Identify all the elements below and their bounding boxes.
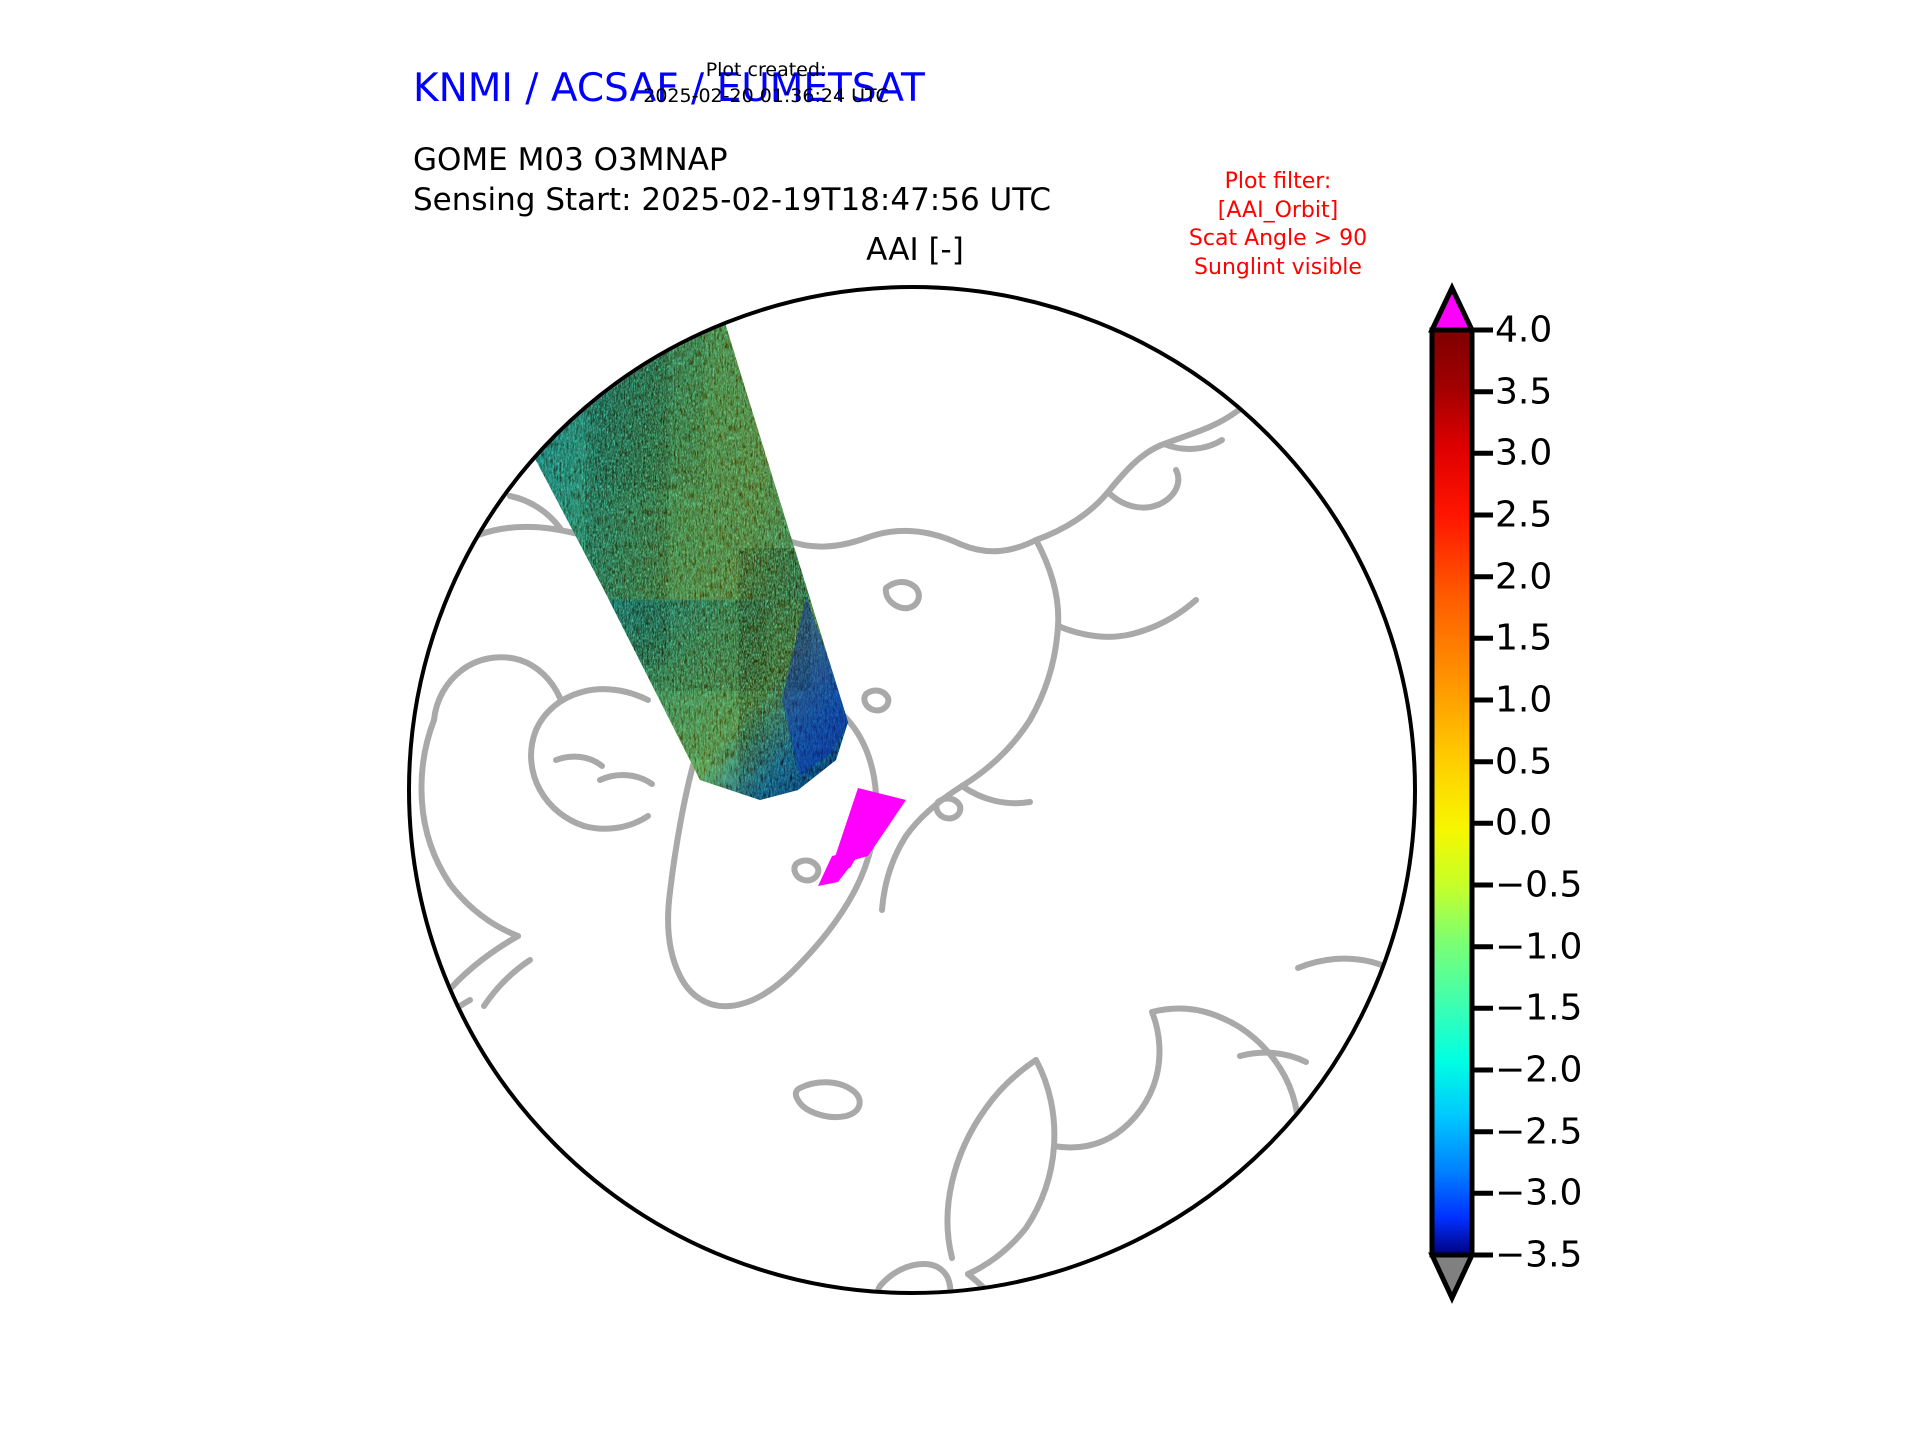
colorbar-tick-label: 2.5 <box>1495 495 1552 536</box>
colorbar-tick-label: 0.5 <box>1495 741 1552 782</box>
colorbar-tick-label: 1.0 <box>1495 680 1552 721</box>
colorbar-tick-label: −3.5 <box>1495 1235 1582 1276</box>
colorbar-tick-label: 3.0 <box>1495 433 1552 474</box>
colorbar-tick-label: 1.5 <box>1495 618 1552 659</box>
colorbar-tick-label: 3.5 <box>1495 371 1552 412</box>
colorbar-tick-label: −2.5 <box>1495 1111 1582 1152</box>
colorbar-tick-label: −1.5 <box>1495 988 1582 1029</box>
colorbar-tick-label: −1.0 <box>1495 926 1582 967</box>
plot-canvas: KNMI / ACSAF / EUMETSAT Plot created: 20… <box>0 0 1920 1440</box>
colorbar-tick-label: 2.0 <box>1495 556 1552 597</box>
colorbar-ticks <box>1472 330 1493 1255</box>
colorbar-under-arrow <box>1432 1255 1472 1298</box>
colorbar-svg <box>1415 270 1675 1320</box>
colorbar-over-arrow <box>1432 288 1472 330</box>
colorbar-tick-label: −2.0 <box>1495 1050 1582 1091</box>
colorbar-gradient <box>1432 330 1472 1255</box>
colorbar-tick-label: 4.0 <box>1495 310 1552 351</box>
colorbar-tick-label: −3.0 <box>1495 1173 1582 1214</box>
colorbar: 4.0 3.5 3.0 2.5 2.0 1.5 1.0 0.5 0.0 −0.5… <box>1415 270 1675 1320</box>
colorbar-tick-label: 0.0 <box>1495 803 1552 844</box>
colorbar-tick-label: −0.5 <box>1495 865 1582 906</box>
